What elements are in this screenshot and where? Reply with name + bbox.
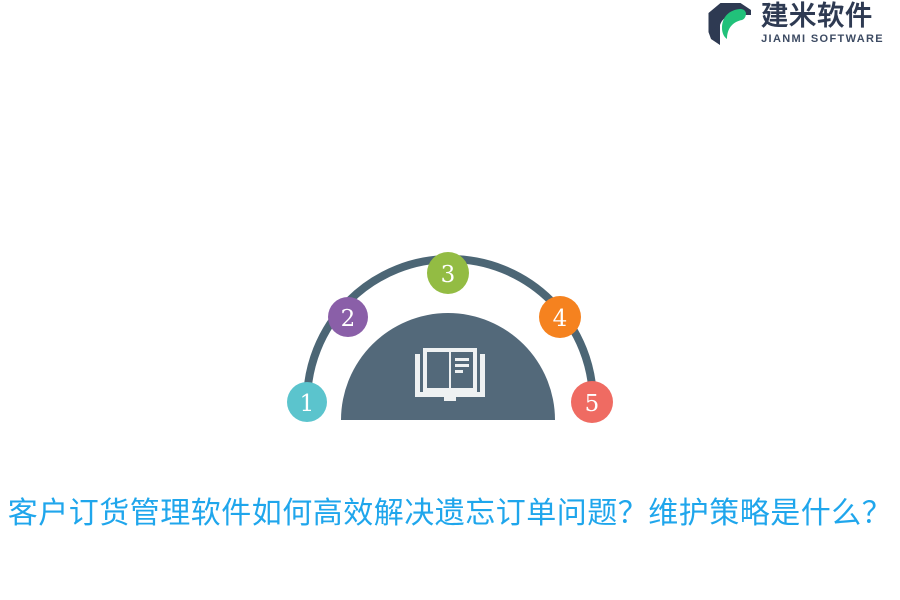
jianmi-hexagon-leaf-logo — [707, 2, 753, 46]
step-node-1[interactable]: 1 — [287, 382, 327, 422]
step-4-label: 4 — [553, 306, 568, 332]
page-title: 客户订货管理软件如何高效解决遗忘订单问题？维护策略是什么？ — [0, 488, 900, 532]
brand-name-cn: 建米软件 — [761, 3, 884, 31]
brand-name-en: JIANMI SOFTWARE — [761, 34, 884, 45]
step-node-2[interactable]: 2 — [328, 297, 368, 337]
step-2-label: 2 — [341, 306, 356, 332]
step-1-label: 1 — [300, 391, 315, 417]
brand-text: 建米软件 JIANMI SOFTWARE — [761, 3, 884, 45]
step-node-5[interactable]: 5 — [571, 381, 613, 423]
step-node-4[interactable]: 4 — [539, 296, 581, 338]
process-infographic: 1 2 3 4 5 — [236, 236, 664, 446]
open-book-icon — [415, 348, 485, 401]
step-3-label: 3 — [441, 262, 456, 288]
step-5-label: 5 — [585, 391, 600, 417]
step-node-3[interactable]: 3 — [427, 252, 469, 294]
infographic-svg: 1 2 3 4 5 — [236, 236, 664, 446]
brand-header: 建米软件 JIANMI SOFTWARE — [707, 0, 884, 48]
